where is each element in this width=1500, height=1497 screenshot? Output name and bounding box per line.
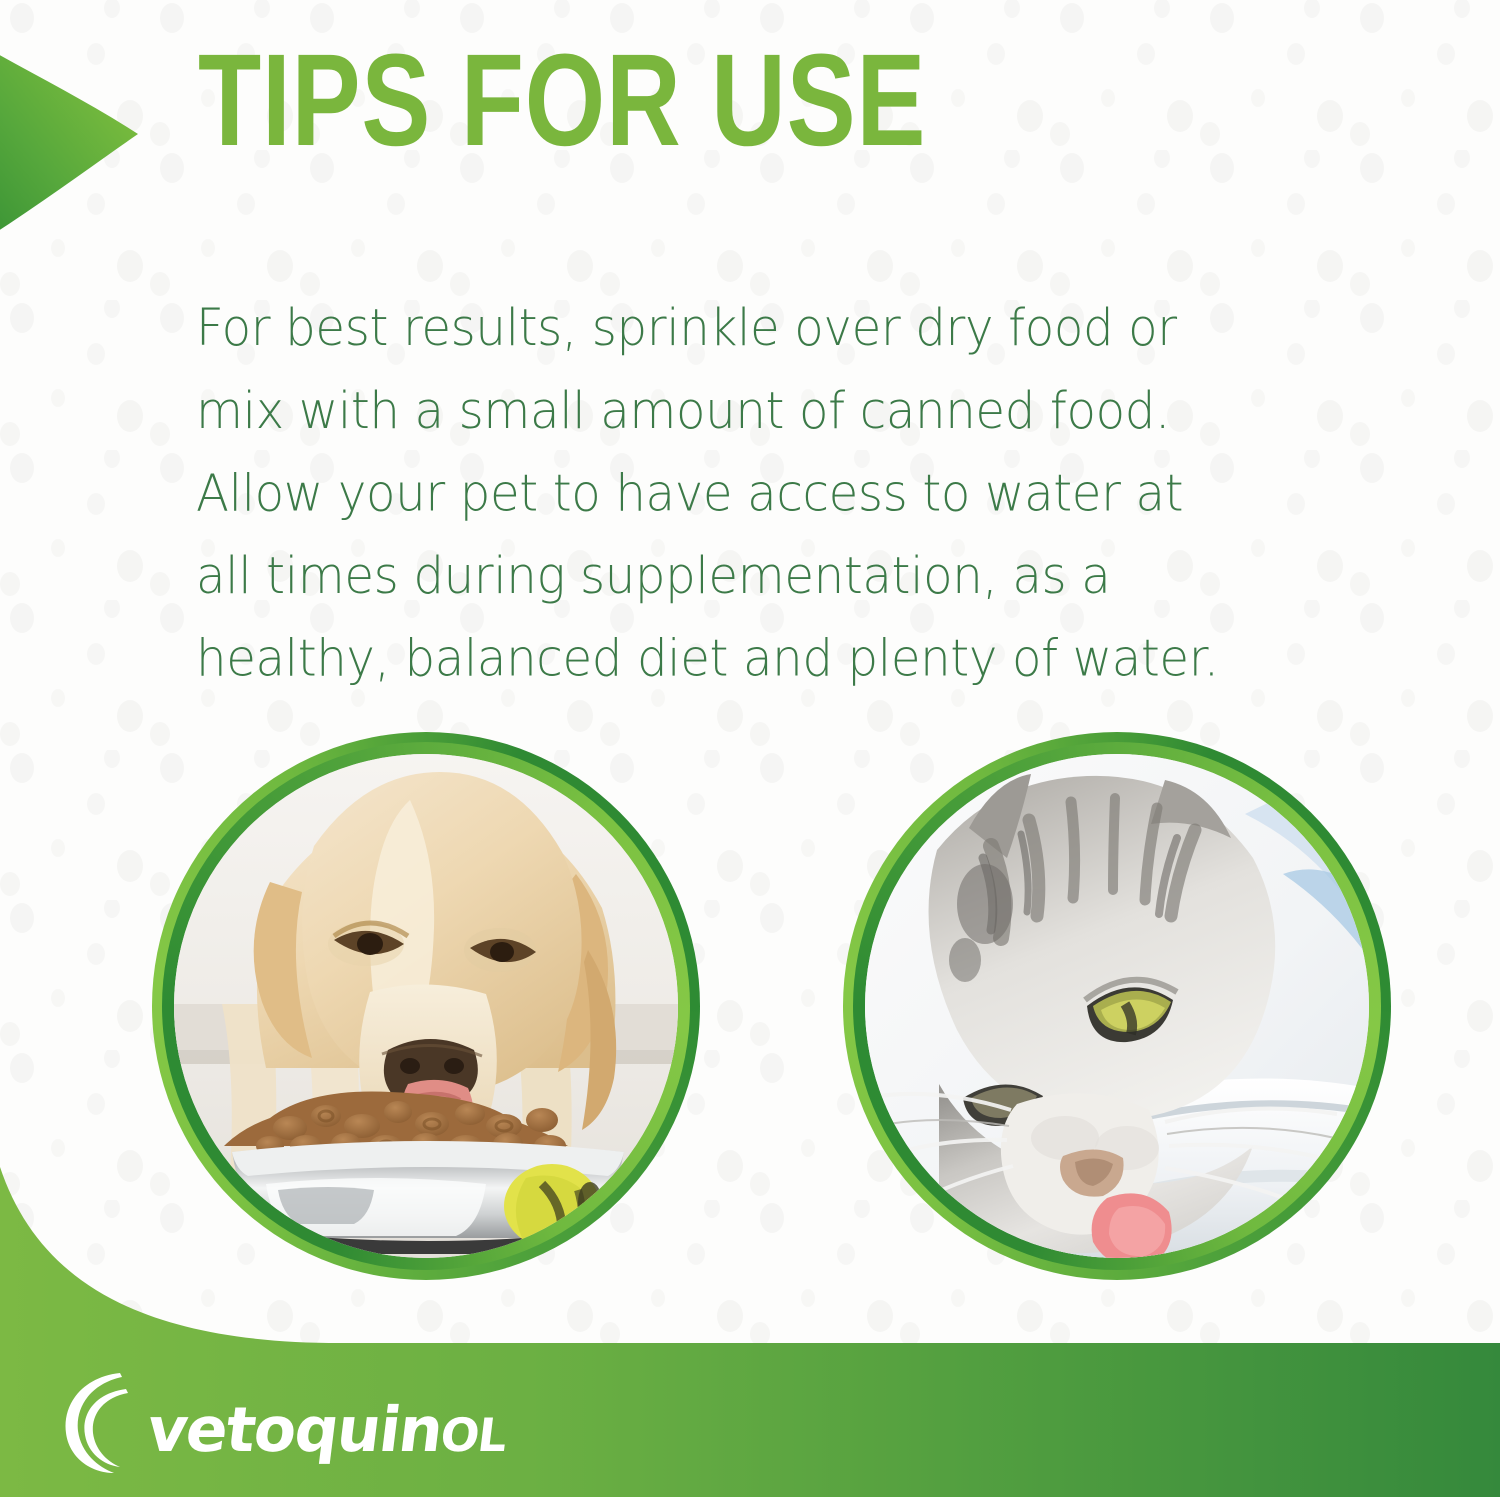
brand-name-tail: OL <box>438 1408 509 1462</box>
photo-image-dog <box>174 754 678 1258</box>
photo-circle-cat <box>843 732 1391 1280</box>
corner-arrow-icon <box>0 30 216 260</box>
body-line-3: Allow your pet to have access to water a… <box>196 452 1315 535</box>
body-line-2: mix with a small amount of canned food. <box>196 370 1315 453</box>
infographic-panel: TIPS FOR USE For best results, sprinkle … <box>0 0 1500 1497</box>
brand-name-head: vetoquin <box>143 1393 446 1466</box>
photo-circle-dog <box>152 732 700 1280</box>
page-title: TIPS FOR USE <box>198 34 926 165</box>
body-line-4: all times during supplementation, as a <box>196 535 1315 618</box>
photo-image-cat <box>865 754 1369 1258</box>
body-copy: For best results, sprinkle over dry food… <box>196 287 1315 700</box>
brand-name: vetoquinOL <box>144 1399 510 1461</box>
brand-logo: vetoquinOL <box>56 1361 508 1479</box>
body-line-5: healthy, balanced diet and plenty of wat… <box>196 617 1315 700</box>
body-line-1: For best results, sprinkle over dry food… <box>196 287 1315 370</box>
